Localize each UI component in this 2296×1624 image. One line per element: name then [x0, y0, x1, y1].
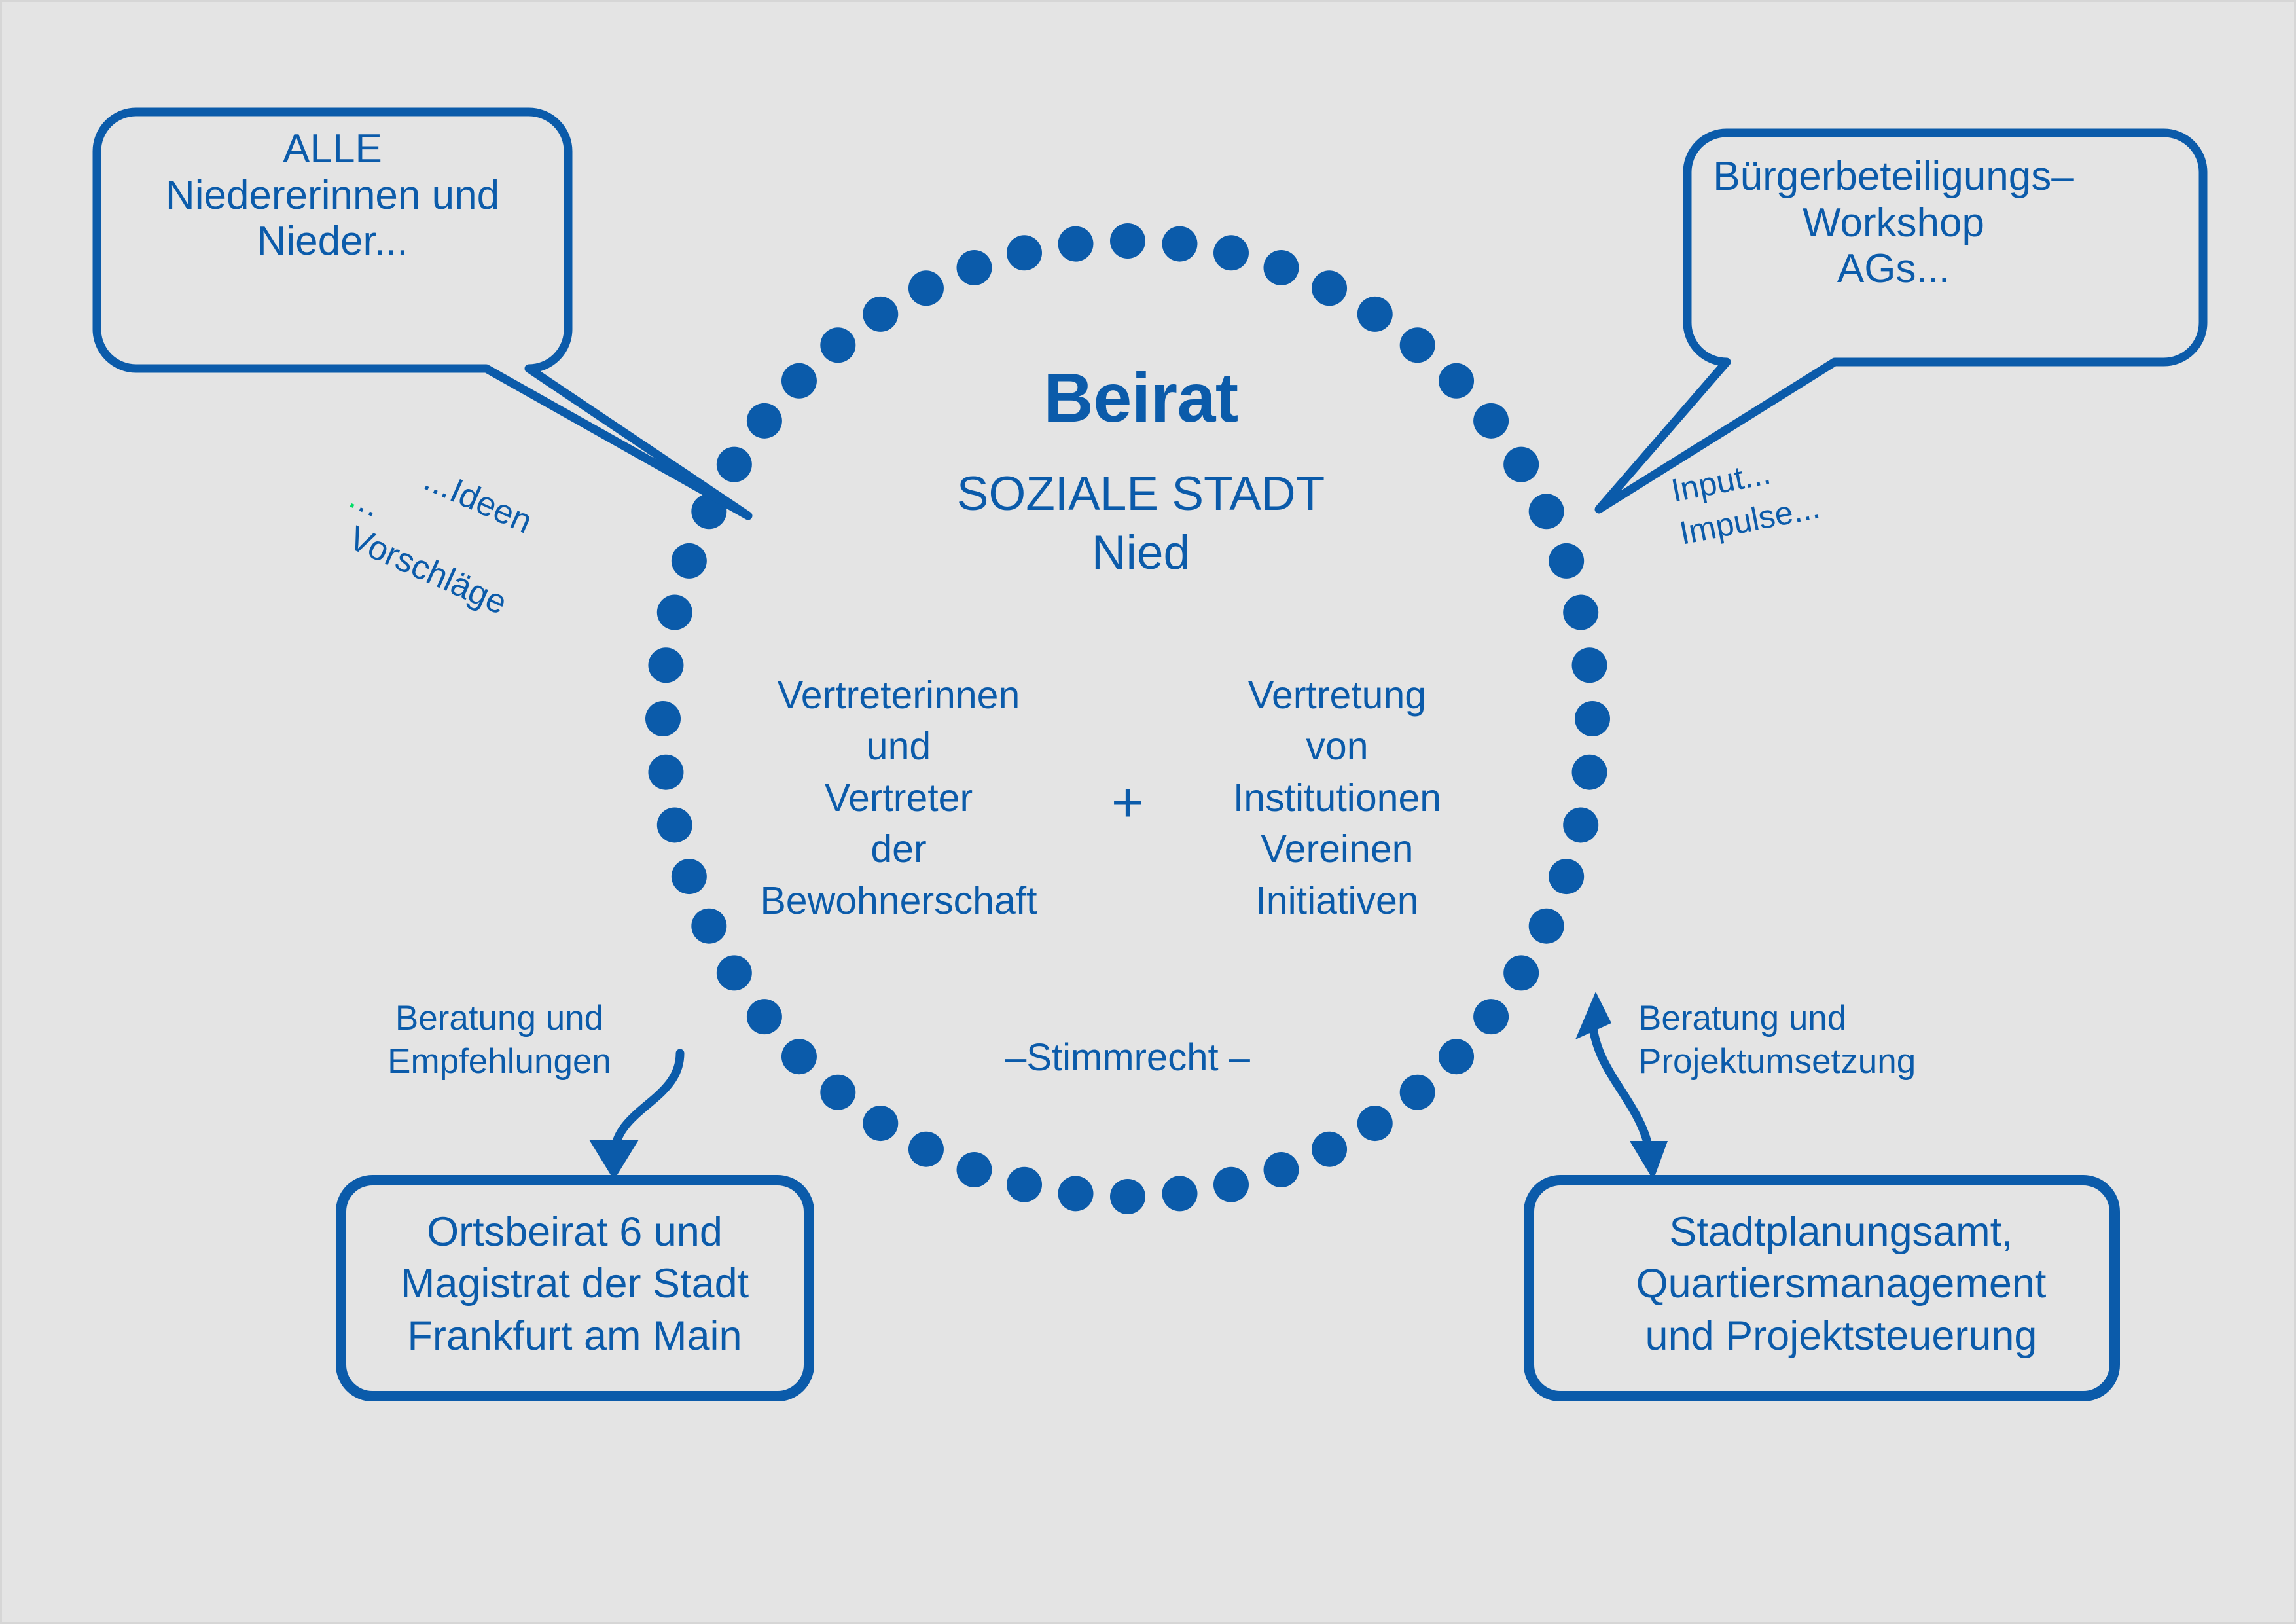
circle-dot — [1572, 755, 1607, 790]
diagram-canvas: ALLE Niedererinnen und Nieder... Bürgerb… — [0, 0, 2296, 1624]
circle-dot — [657, 807, 692, 842]
circle-dot — [672, 543, 707, 579]
circle-dot — [1357, 297, 1393, 332]
members-column-left: Vertreterinnen und Vertreter der Bewohne… — [715, 670, 1082, 926]
circle-dot — [1312, 270, 1347, 306]
circle-dot — [1110, 223, 1145, 259]
page-title: Beirat — [833, 359, 1448, 438]
circle-dot — [1058, 226, 1094, 262]
circle-dot — [1007, 1167, 1042, 1202]
circle-dot — [1264, 250, 1299, 285]
circle-dot — [1213, 235, 1249, 270]
circle-dot — [1058, 1176, 1094, 1211]
circle-dot — [908, 270, 944, 306]
circle-dot — [957, 250, 992, 285]
subtitle-line-1: SOZIALE STADT — [833, 467, 1448, 521]
plus-symbol: + — [1075, 774, 1180, 831]
arrow-label-bottom-left: Beratung und Empfehlungen — [359, 997, 640, 1083]
circle-dot — [1213, 1167, 1249, 1202]
circle-dot — [1549, 543, 1584, 579]
circle-dot — [1473, 999, 1509, 1034]
box-bottom-left-text: Ortsbeirat 6 und Magistrat der Stadt Fra… — [349, 1206, 800, 1362]
circle-dot — [863, 297, 898, 332]
circle-dot — [1110, 1179, 1145, 1214]
circle-dot — [1312, 1132, 1347, 1167]
circle-dot — [1162, 1176, 1197, 1211]
circle-dot — [1529, 494, 1564, 529]
circle-dot — [657, 595, 692, 630]
circle-dot — [1529, 909, 1564, 944]
circle-dot — [1572, 647, 1607, 683]
circle-dot — [672, 859, 707, 894]
circle-dot — [957, 1152, 992, 1187]
circle-dot — [1162, 226, 1197, 262]
circle-dot — [1400, 327, 1435, 363]
circle-dot — [1563, 595, 1598, 630]
members-column-right: Vertretung von Institutionen Vereinen In… — [1180, 670, 1494, 926]
circle-dot — [781, 1039, 817, 1074]
circle-dot — [648, 755, 683, 790]
circle-dot — [717, 955, 752, 990]
circle-dot — [1473, 403, 1509, 439]
bubble-top-right-text: Bürgerbeteiligungs– Workshop AGs... — [1668, 154, 2119, 293]
subtitle-line-2: Nied — [833, 526, 1448, 580]
circle-dot — [1400, 1075, 1435, 1110]
circle-dot — [1439, 1039, 1474, 1074]
circle-dot — [781, 363, 817, 399]
circle-dot — [1549, 859, 1584, 894]
circle-dot — [747, 999, 782, 1034]
circle-dot — [863, 1106, 898, 1141]
circle-dot — [1575, 701, 1610, 736]
circle-dot — [908, 1132, 944, 1167]
circle-dot — [717, 447, 752, 482]
circle-dot — [747, 403, 782, 439]
arrow-label-bottom-right: Beratung und Projektumsetzung — [1638, 997, 1965, 1083]
circle-dot — [1503, 955, 1539, 990]
circle-dot — [820, 327, 855, 363]
circle-dot — [645, 701, 681, 736]
circle-dot — [820, 1075, 855, 1110]
circle-dot — [1563, 807, 1598, 842]
circle-dot — [1007, 235, 1042, 270]
circle-dot — [1264, 1152, 1299, 1187]
circle-dot — [1357, 1106, 1393, 1141]
voting-rights-note: –Stimmrecht – — [925, 1036, 1331, 1079]
circle-dot — [1503, 447, 1539, 482]
box-bottom-right-text: Stadtplanungsamt, Quartiersmanagement un… — [1553, 1206, 2129, 1362]
circle-dot — [648, 647, 683, 683]
bubble-top-left-text: ALLE Niedererinnen und Nieder... — [100, 126, 565, 265]
